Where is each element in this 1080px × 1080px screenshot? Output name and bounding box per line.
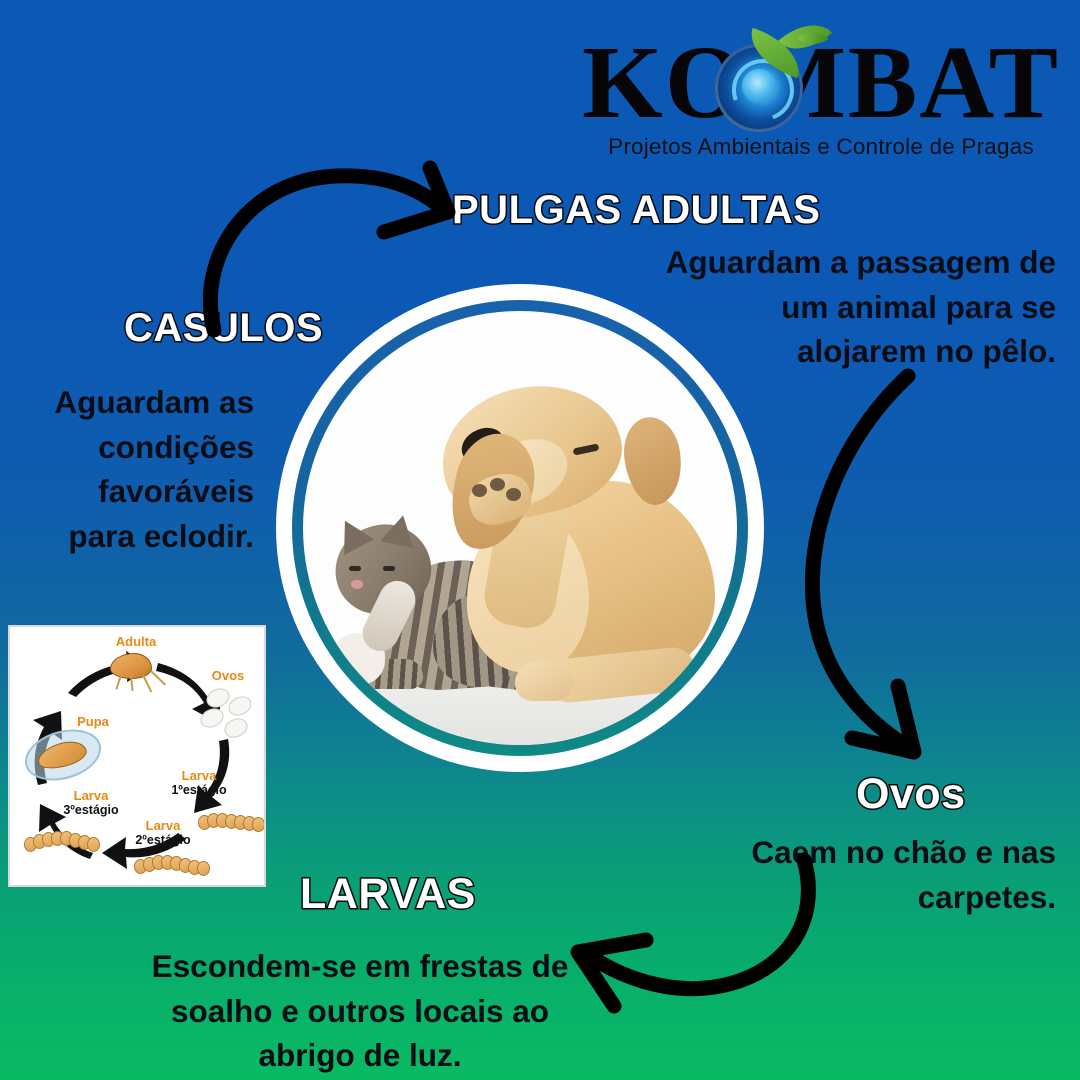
lifecycle-label-larva-2: Larva 2ºestágio <box>120 819 206 847</box>
dog-illustration <box>399 371 717 701</box>
lifecycle-label-larva-2-main: Larva <box>146 818 181 833</box>
lifecycle-label-adulta-main: Adulta <box>116 634 156 649</box>
brand-logo: KOMBAT Projetos Ambientais e Controle de… <box>586 28 1056 178</box>
larva-stage-1-icon <box>198 813 266 829</box>
larva-stage-2-icon <box>134 855 212 871</box>
larva-stage-3-icon <box>24 831 106 847</box>
arrow-pulgas-to-ovos-icon <box>790 370 980 770</box>
lifecycle-label-larva-2-sub: 2ºestágio <box>120 833 206 847</box>
pupa-cocoon-icon <box>24 731 102 779</box>
lifecycle-label-larva-1-sub: 1ºestágio <box>156 783 242 797</box>
brand-wordmark: KOMBAT <box>582 28 1060 138</box>
lifecycle-label-larva-1: Larva 1ºestágio <box>156 769 242 797</box>
lifecycle-label-pupa: Pupa <box>58 715 128 729</box>
pet-photo <box>303 311 737 745</box>
lifecycle-label-larva-1-main: Larva <box>182 768 217 783</box>
arrow-casulos-to-pulgas-icon <box>186 150 486 340</box>
lifecycle-label-larva-3-main: Larva <box>74 788 109 803</box>
lifecycle-label-ovos-main: Ovos <box>212 668 245 683</box>
infographic-poster: KOMBAT Projetos Ambientais e Controle de… <box>0 0 1080 1080</box>
lifecycle-label-adulta: Adulta <box>96 635 176 649</box>
stage-body-casulos: Aguardam as condições favoráveis para ec… <box>26 380 254 559</box>
brand-tagline: Projetos Ambientais e Controle de Pragas <box>608 134 1034 160</box>
stage-title-pulgas-adultas: PULGAS ADULTAS <box>452 188 820 233</box>
arrow-ovos-to-larvas-icon <box>556 838 856 1038</box>
stage-title-ovos: Ovos <box>856 770 966 819</box>
lifecycle-label-larva-3: Larva 3ºestágio <box>48 789 134 817</box>
lifecycle-label-pupa-main: Pupa <box>77 714 109 729</box>
stage-body-pulgas-adultas: Aguardam a passagem de um animal para se… <box>652 240 1056 374</box>
stage-body-larvas: Escondem-se em frestas de soalho e outro… <box>140 944 580 1078</box>
adult-flea-icon <box>102 649 166 687</box>
lifecycle-label-larva-3-sub: 3ºestágio <box>48 803 134 817</box>
flea-eggs-icon <box>198 689 260 743</box>
stage-title-larvas: LARVAS <box>300 870 476 919</box>
flea-life-cycle-diagram: Adulta Ovos Larva 1ºestágio Larva 2ºestá… <box>8 625 266 887</box>
lifecycle-label-ovos: Ovos <box>196 669 260 683</box>
